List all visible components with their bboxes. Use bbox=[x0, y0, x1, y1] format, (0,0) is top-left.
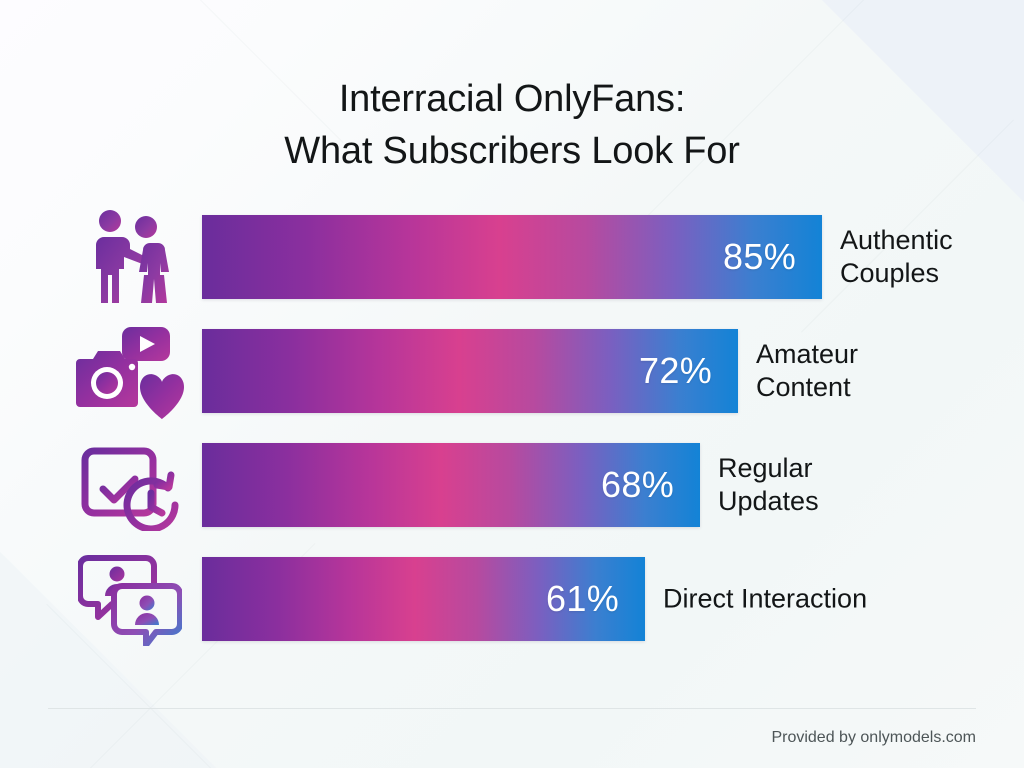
bar-fill: 85% bbox=[202, 215, 822, 299]
bar-fill: 61% bbox=[202, 557, 645, 641]
bar-fill: 68% bbox=[202, 443, 700, 527]
bar-track: 68% Regular Updates bbox=[202, 443, 992, 527]
bar-category-label: Amateur Content bbox=[756, 338, 858, 404]
page-title-line-2: What Subscribers Look For bbox=[0, 125, 1024, 177]
bar-category-label: Authentic Couples bbox=[840, 224, 953, 290]
bar-value-label: 72% bbox=[639, 353, 712, 389]
infographic-canvas: Interracial OnlyFans: What Subscribers L… bbox=[0, 0, 1024, 768]
bar-category-label: Regular Updates bbox=[718, 452, 819, 518]
bar-row: 72% Amateur Content bbox=[0, 329, 1024, 413]
bar-track: 72% Amateur Content bbox=[202, 329, 992, 413]
footer-attribution: Provided by onlymodels.com bbox=[771, 728, 976, 748]
bar-row: 61% Direct Interaction bbox=[0, 557, 1024, 641]
bar-row: 68% Regular Updates bbox=[0, 443, 1024, 527]
bar-row: 85% Authentic Couples bbox=[0, 215, 1024, 299]
camera-video-heart-icon bbox=[72, 321, 188, 421]
bar-fill: 72% bbox=[202, 329, 738, 413]
chat-bubbles-icon bbox=[72, 549, 188, 649]
bar-chart: 85% Authentic Couples bbox=[0, 215, 1024, 671]
couple-icon bbox=[72, 207, 188, 307]
footer-divider bbox=[48, 708, 976, 709]
calendar-clock-icon bbox=[72, 435, 188, 535]
bar-track: 61% Direct Interaction bbox=[202, 557, 992, 641]
bar-category-label: Direct Interaction bbox=[663, 583, 867, 616]
page-title: Interracial OnlyFans: What Subscribers L… bbox=[0, 73, 1024, 177]
bar-value-label: 61% bbox=[546, 581, 619, 617]
bar-value-label: 85% bbox=[723, 239, 796, 275]
page-title-line-1: Interracial OnlyFans: bbox=[0, 73, 1024, 125]
bar-track: 85% Authentic Couples bbox=[202, 215, 992, 299]
bar-value-label: 68% bbox=[601, 467, 674, 503]
